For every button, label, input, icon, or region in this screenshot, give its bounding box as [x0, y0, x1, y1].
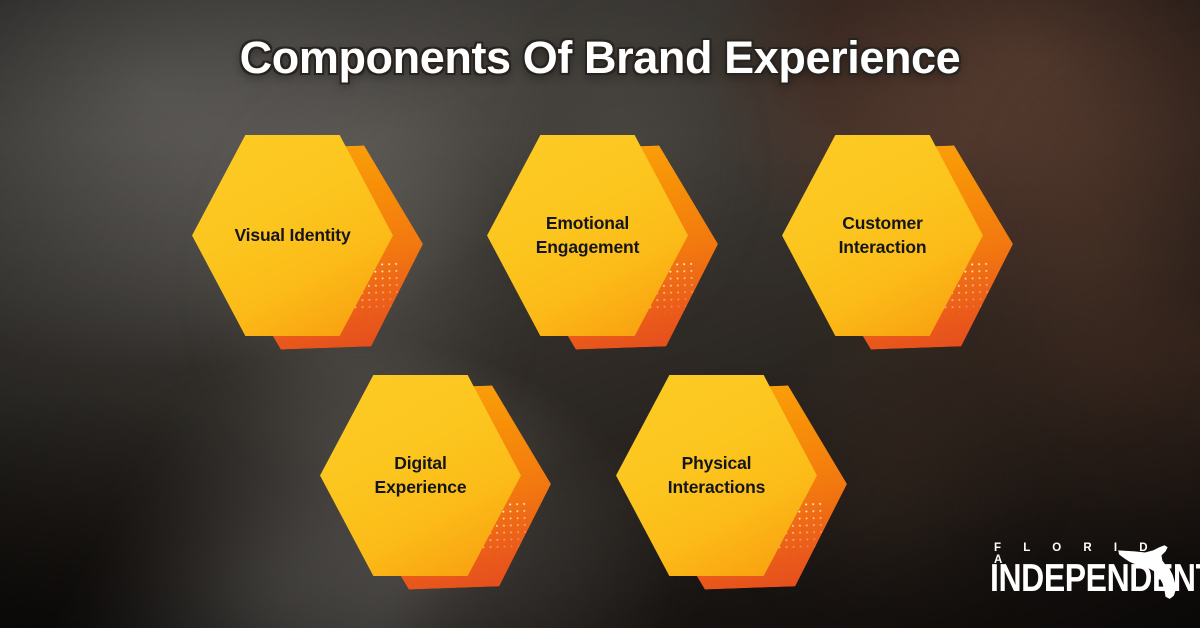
component-card-physical-interactions[interactable]: Physical Interactions — [614, 373, 844, 593]
component-label: Customer Interaction — [823, 212, 943, 258]
component-label: Physical Interactions — [652, 452, 781, 498]
component-card-digital-experience[interactable]: Digital Experience — [318, 373, 548, 593]
florida-state-outline-icon — [1114, 538, 1180, 604]
component-card-visual-identity[interactable]: Visual Identity — [190, 133, 420, 353]
component-card-emotional-engagement[interactable]: Emotional Engagement — [485, 133, 715, 353]
component-card-customer-interaction[interactable]: Customer Interaction — [780, 133, 1010, 353]
page-title: Components Of Brand Experience — [0, 32, 1200, 84]
infographic-canvas: Components Of Brand Experience Visual Id… — [0, 0, 1200, 628]
brand-logo[interactable]: F L O R I D A INDEPENDENT — [978, 540, 1178, 606]
component-label: Digital Experience — [359, 452, 483, 498]
component-label: Emotional Engagement — [520, 212, 656, 258]
component-label: Visual Identity — [218, 224, 366, 247]
